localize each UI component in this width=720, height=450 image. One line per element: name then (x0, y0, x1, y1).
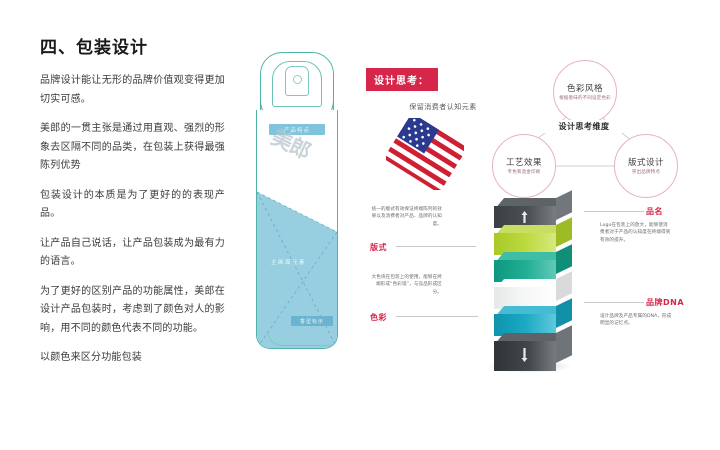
venn-circle-layout[interactable]: 版式设计 突出品牌特点 (614, 134, 678, 198)
venn-circle-layout-sub: 突出品牌特点 (618, 170, 674, 176)
usa-flag-icon (386, 118, 464, 190)
can-bottom-rim (267, 331, 338, 346)
callout-dna-text: 设计品牌及产品专属的DNA，形成明显的记忆点。 (600, 313, 672, 328)
block-top-dark[interactable] (494, 198, 556, 220)
venn-circle-color[interactable]: 色彩风格 根据香味的不同设定色彩 (553, 60, 617, 124)
design-thinking-panel: 设计思考： 保留消费者认知元素 (356, 60, 704, 360)
paragraph-6: 以颜色来区分功能包装 (40, 349, 225, 368)
paragraph-4: 让产品自己说话，让产品包装成为最有力的语言。 (40, 235, 225, 272)
can-bottom-tag: 香型标示 (291, 316, 333, 326)
venn-circle-layout-title: 版式设计 (628, 156, 664, 168)
venn-circle-craft[interactable]: 工艺效果 专色和烫金印刷 (492, 134, 556, 198)
arrow-up-icon (521, 211, 528, 223)
can-body: 产品特点 美郎 主画面元素 香型标示 (256, 110, 338, 349)
block-white[interactable] (494, 279, 556, 301)
left-text-column: 四、包装设计 品牌设计能让无形的品牌价值观变得更加切实可感。 美郎的一贯主张是通… (40, 38, 225, 379)
design-thinking-badge: 设计思考： (366, 68, 438, 91)
spray-can-illustration: 产品特点 美郎 主画面元素 香型标示 (248, 52, 344, 352)
paragraph-5: 为了更好的区别产品的功能属性，美郎在设计产品包装时，考虑到了颜色对人的影响，用不… (40, 283, 225, 339)
venn-center-label: 设计思考维度 (536, 120, 632, 133)
venn-circle-craft-title: 工艺效果 (506, 156, 542, 168)
can-nozzle-icon (285, 66, 309, 96)
can-main-visual-label: 主画面元素 (271, 258, 306, 266)
slide-page: 四、包装设计 品牌设计能让无形的品牌价值观变得更加切实可感。 美郎的一贯主张是通… (0, 0, 720, 450)
lead-line-name (584, 211, 644, 212)
callout-layout-label: 版式 (370, 242, 387, 253)
page-title: 四、包装设计 (40, 38, 225, 58)
lead-line-color (396, 316, 478, 317)
callout-color-label: 色彩 (370, 312, 387, 323)
paragraph-3: 包装设计的本质是为了更好的的表现产品。 (40, 187, 225, 224)
paragraph-2: 美郎的一贯主张是通过用直观、强烈的形象去区隔不同的品类，在包装上获得最强陈列优势 (40, 120, 225, 176)
block-teal[interactable] (494, 252, 556, 274)
design-dimension-venn: 色彩风格 根据香味的不同设定色彩 工艺效果 专色和烫金印刷 版式设计 突出品牌特… (484, 58, 684, 198)
callout-layout-text: 统一的版式有效保证终端陈列的效果以及消费者对产品、品牌的认知度。 (368, 206, 442, 228)
stacked-blocks-diagram (476, 198, 586, 378)
callout-dna-label: 品牌DNA (646, 297, 684, 308)
block-lime[interactable] (494, 225, 556, 247)
venn-circle-color-sub: 根据香味的不同设定色彩 (557, 96, 613, 102)
lead-line-layout (396, 246, 476, 247)
callout-name-label: 品名 (646, 206, 663, 217)
paragraph-1: 品牌设计能让无形的品牌价值观变得更加切实可感。 (40, 72, 225, 109)
venn-circle-color-title: 色彩风格 (567, 82, 603, 94)
block-bottom-dark[interactable] (494, 333, 556, 363)
callout-color-text: 大色块在包装上的使用，能够在终端形成“色彩墙”，与竞品形成区分。 (368, 274, 442, 296)
callout-name-text: Logo在包装上的放大，能够使消费者对于产品的认知度在终端得到有效的提升。 (600, 222, 672, 244)
venn-circle-craft-sub: 专色和烫金印刷 (496, 170, 552, 176)
lead-line-dna (584, 302, 644, 303)
block-cyan[interactable] (494, 306, 556, 328)
arrow-down-icon (521, 348, 528, 362)
